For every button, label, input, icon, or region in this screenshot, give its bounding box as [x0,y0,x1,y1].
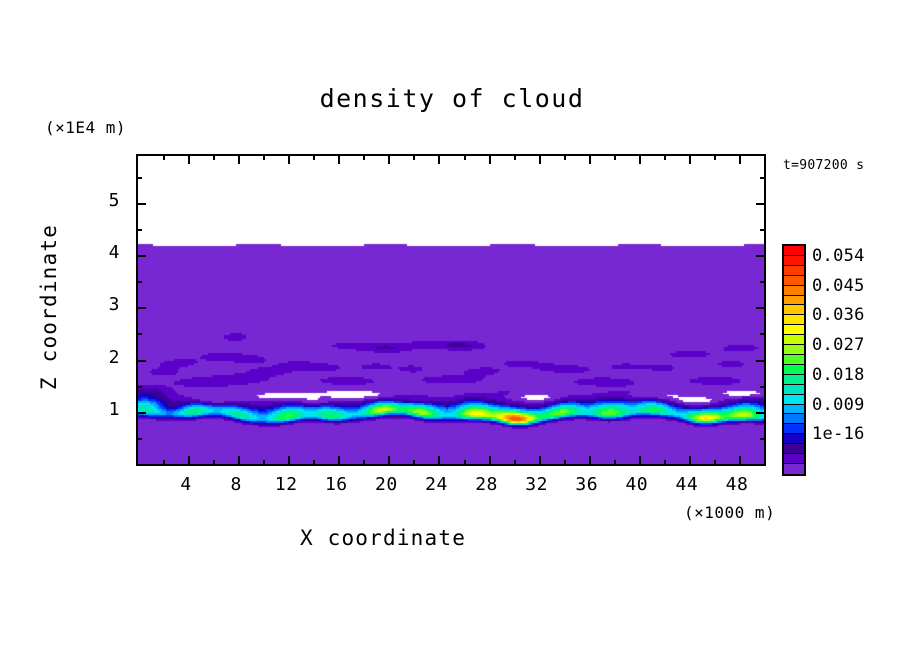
colorbar-band [784,414,804,424]
colorbar-tick-label: 0.036 [812,305,865,325]
x-axis-title: X coordinate [0,526,766,550]
axis-tick [539,155,541,164]
y-tick-label: 5 [98,190,120,211]
x-tick-label: 48 [717,474,757,495]
axis-tick [639,155,641,164]
axis-tick [489,456,491,465]
y-tick-label: 1 [98,399,120,420]
colorbar-band [784,444,804,454]
axis-tick [338,456,340,465]
axis-tick [137,360,146,362]
colorbar-tick-label: 0.018 [812,365,865,385]
colorbar-band [784,266,804,276]
axis-tick [639,456,641,465]
axis-tick [363,155,365,160]
axis-tick [756,360,765,362]
axis-tick [539,456,541,465]
x-tick-label: 4 [166,474,206,495]
axis-tick [614,155,616,160]
axis-tick [137,229,142,231]
colorbar-band [784,246,804,256]
axis-tick [760,281,765,283]
axis-tick [263,460,265,465]
axis-tick [163,155,165,160]
axis-tick [238,155,240,164]
colorbar-band [784,355,804,365]
x-axis-unit-label: (×1000 m) [684,503,775,522]
axis-tick [388,155,390,164]
colorbar-band [784,276,804,286]
axis-tick [313,155,315,160]
axis-tick [489,155,491,164]
axis-tick [137,255,146,257]
axis-tick [689,456,691,465]
colorbar-band [784,345,804,355]
x-tick-label: 32 [517,474,557,495]
axis-tick [564,155,566,160]
axis-tick [263,155,265,160]
x-tick-label: 28 [467,474,507,495]
x-tick-label: 40 [617,474,657,495]
colorbar-band [784,286,804,296]
axis-tick [363,460,365,465]
axis-tick [188,155,190,164]
x-tick-label: 24 [416,474,456,495]
colorbar-band [784,365,804,375]
colorbar-band [784,405,804,415]
axis-tick [213,460,215,465]
colorbar-tick-label: 0.027 [812,335,865,355]
axis-tick [514,460,516,465]
x-tick-label: 20 [366,474,406,495]
colorbar-tick-label: 0.045 [812,276,865,296]
axis-tick [213,155,215,160]
axis-tick [413,460,415,465]
timestamp-label: t=907200 s [783,158,864,173]
colorbar-band [784,296,804,306]
x-tick-label: 36 [567,474,607,495]
axis-tick [589,456,591,465]
axis-tick [438,155,440,164]
page-title: density of cloud [0,84,904,113]
axis-tick [739,155,741,164]
axis-tick [188,456,190,465]
colorbar[interactable] [782,244,806,476]
axis-tick [589,155,591,164]
axis-tick [438,456,440,465]
colorbar-band [784,315,804,325]
axis-tick [760,229,765,231]
axis-tick [760,333,765,335]
axis-tick [739,456,741,465]
axis-tick [137,412,146,414]
colorbar-band [784,385,804,395]
axis-tick [756,255,765,257]
axis-tick [238,456,240,465]
y-axis-unit-label: (×1E4 m) [45,118,126,137]
colorbar-band [784,424,804,434]
plot-area[interactable] [136,154,766,466]
axis-tick [664,155,666,160]
colorbar-band [784,256,804,266]
y-tick-label: 4 [98,242,120,263]
axis-tick [137,177,142,179]
axis-tick [564,460,566,465]
y-tick-label: 2 [98,347,120,368]
contour-field [138,156,764,464]
axis-tick [714,155,716,160]
y-tick-label: 3 [98,294,120,315]
axis-tick [288,456,290,465]
colorbar-band [784,335,804,345]
axis-tick [514,155,516,160]
axis-tick [689,155,691,164]
axis-tick [760,386,765,388]
axis-tick [756,203,765,205]
axis-tick [714,460,716,465]
axis-tick [760,438,765,440]
colorbar-tick-label: 1e-16 [812,424,865,444]
axis-tick [137,333,142,335]
axis-tick [388,456,390,465]
colorbar-band [784,305,804,315]
axis-tick [338,155,340,164]
x-tick-label: 12 [266,474,306,495]
axis-tick [760,177,765,179]
axis-tick [464,460,466,465]
colorbar-band [784,325,804,335]
axis-tick [756,307,765,309]
axis-tick [137,438,142,440]
axis-tick [614,460,616,465]
axis-tick [756,412,765,414]
colorbar-band [784,375,804,385]
colorbar-band [784,434,804,444]
axis-tick [313,460,315,465]
colorbar-band [784,454,804,464]
axis-tick [137,203,146,205]
y-axis-title: Z coordinate [37,222,61,392]
axis-tick [288,155,290,164]
axis-tick [137,281,142,283]
axis-tick [413,155,415,160]
colorbar-tick-label: 0.054 [812,246,865,266]
axis-tick [464,155,466,160]
colorbar-tick-label: 0.009 [812,395,865,415]
x-tick-label: 16 [316,474,356,495]
x-tick-label: 44 [667,474,707,495]
axis-tick [137,307,146,309]
x-tick-label: 8 [216,474,256,495]
axis-tick [137,386,142,388]
colorbar-band [784,395,804,405]
axis-tick [163,460,165,465]
axis-tick [664,460,666,465]
colorbar-band [784,464,804,474]
